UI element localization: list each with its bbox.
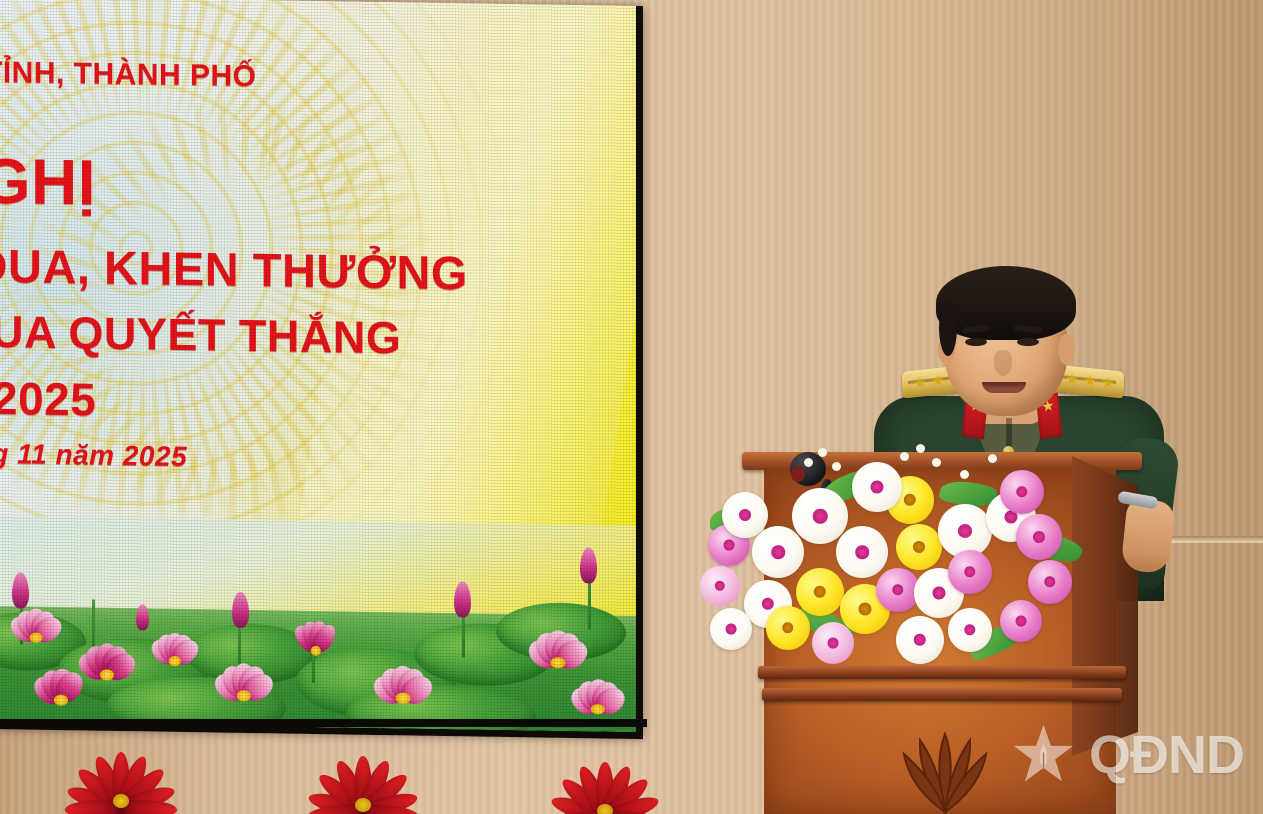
lotus-bloom <box>4 612 68 663</box>
hair <box>936 266 1076 340</box>
lotus-pond-band <box>0 516 636 732</box>
mouth <box>982 382 1026 393</box>
screen-bottom-bezel <box>0 719 647 727</box>
banner-line-title: NGHỊ <box>0 143 96 220</box>
banner-line-date: háng 11 năm 2025 <box>0 437 187 473</box>
ear-right <box>1058 334 1075 365</box>
poinsettia-plant <box>288 746 438 814</box>
poinsettia-plant <box>530 752 680 814</box>
lotus-band-sky <box>0 516 636 616</box>
banner-line-provinces: 5 TỈNH, THÀNH PHỐ <box>0 55 257 94</box>
conference-photo-scene: HU 9 5 TỈNH, THÀNH PHỐ NGHỊ HI ĐUA, KHEN… <box>0 0 1263 814</box>
nose <box>994 350 1012 376</box>
eye-left <box>965 338 987 346</box>
podium-flower-arrangement <box>700 440 1120 700</box>
banner-line-year: 2025 <box>0 371 96 427</box>
podium-lotus-emblem <box>892 704 998 814</box>
banner-line-thidua: HI ĐUA, KHEN THƯỞNG <box>0 237 468 301</box>
banner-text-block: HU 9 5 TỈNH, THÀNH PHỐ NGHỊ HI ĐUA, KHEN… <box>0 0 636 526</box>
eye-right <box>1017 338 1039 346</box>
banner-line-quyetthang: ĐUA QUYẾT THẮNG <box>0 305 401 364</box>
led-backdrop-screen: HU 9 5 TỈNH, THÀNH PHỐ NGHỊ HI ĐUA, KHEN… <box>0 0 643 739</box>
poinsettia-plant <box>46 742 196 814</box>
